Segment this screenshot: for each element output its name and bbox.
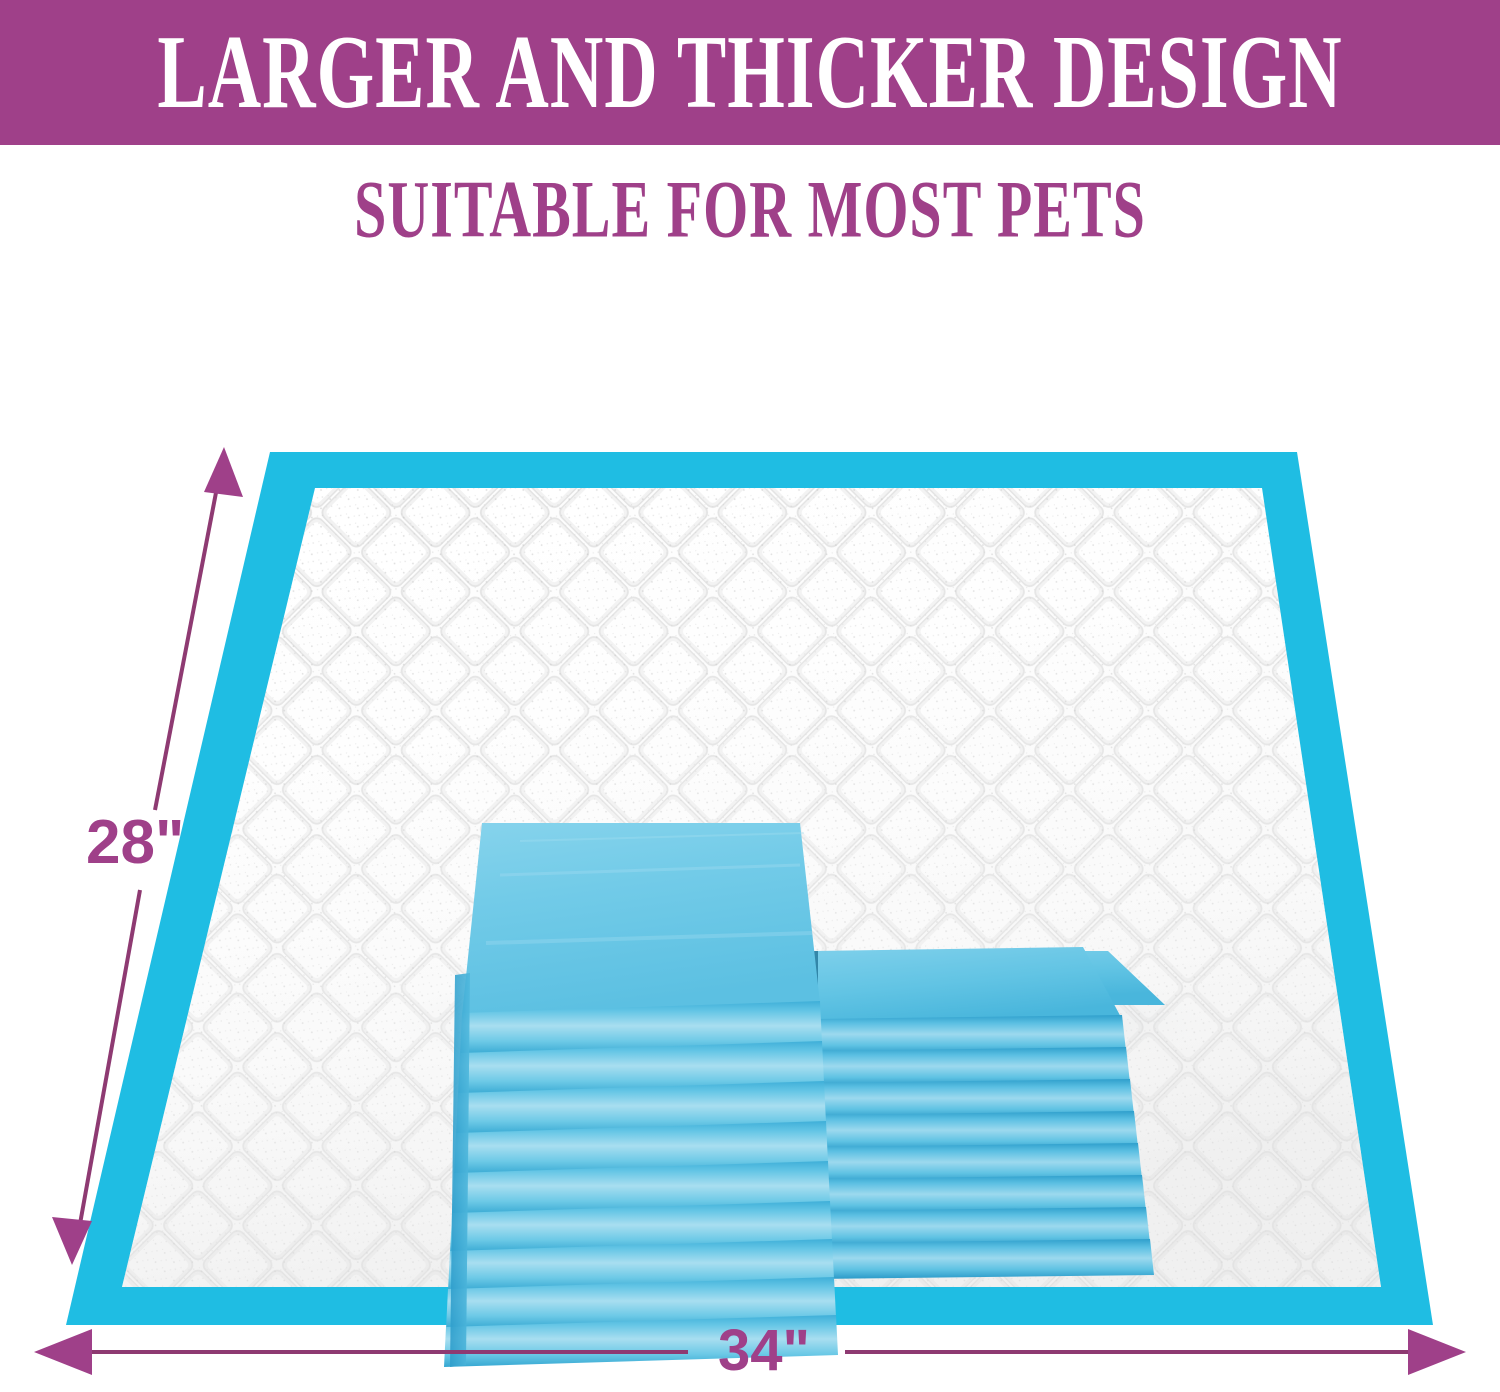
height-dimension-label: 28" <box>86 812 184 874</box>
arrowhead-up <box>204 447 243 497</box>
page-subtitle: SUITABLE FOR MOST PETS <box>354 169 1146 250</box>
dimension-annotations <box>0 275 1500 1392</box>
subtitle-area: SUITABLE FOR MOST PETS <box>0 145 1500 275</box>
page-title: LARGER AND THICKER DESIGN <box>157 20 1342 125</box>
arrowhead-right <box>1408 1329 1466 1375</box>
product-infographic-page: LARGER AND THICKER DESIGN SUITABLE FOR M… <box>0 0 1500 1392</box>
header-banner: LARGER AND THICKER DESIGN <box>0 0 1500 145</box>
width-dimension-label: 34" <box>718 1322 810 1380</box>
arrowhead-down <box>52 1217 92 1265</box>
arrowhead-left <box>34 1329 92 1375</box>
product-scene <box>0 275 1500 1392</box>
